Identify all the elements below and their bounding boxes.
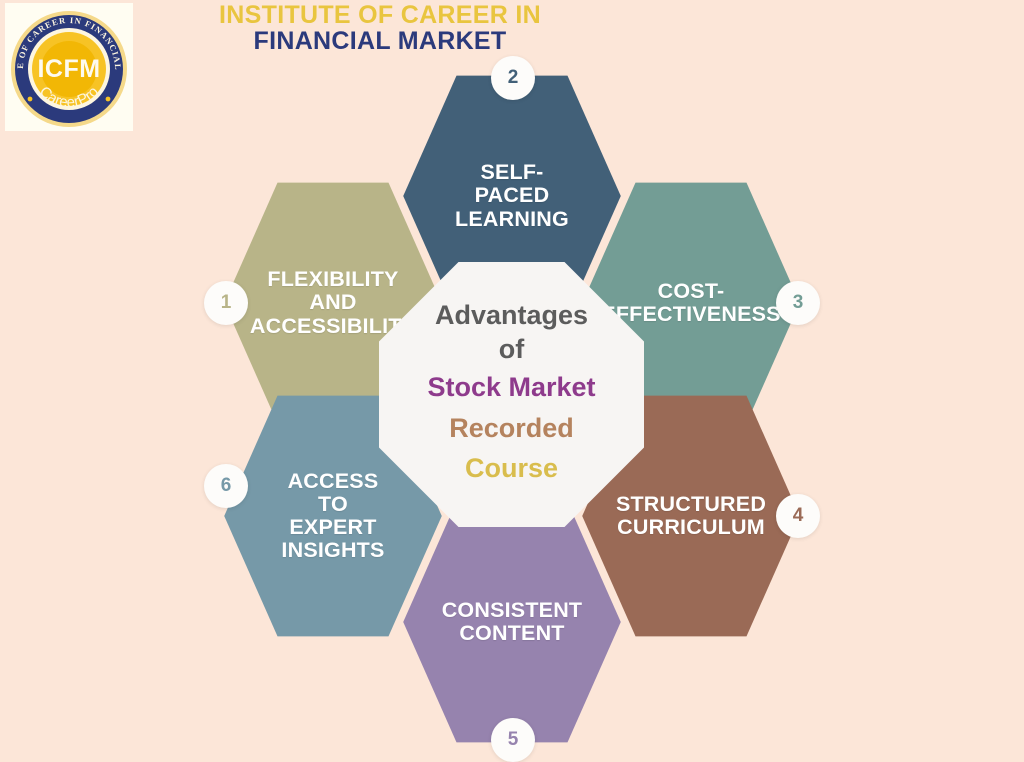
hex-badge-5-number: 5 — [508, 729, 519, 751]
center-line-advantages: Advantages — [435, 300, 588, 330]
hex-badge-2: 2 — [491, 56, 535, 100]
hex-badge-3: 3 — [776, 281, 820, 325]
hex-badge-5: 5 — [491, 718, 535, 762]
center-line-recorded: Recorded — [449, 408, 574, 449]
hex-badge-1: 1 — [204, 281, 248, 325]
center-line-stock-market: Stock Market — [427, 367, 595, 408]
hex-badge-4-number: 4 — [793, 505, 804, 527]
center-line-of: of — [499, 331, 524, 367]
hex-badge-1-number: 1 — [221, 292, 232, 314]
center-title-octagon: Advantages of Stock Market Recorded Cour… — [379, 262, 644, 527]
hex-badge-2-number: 2 — [508, 67, 519, 89]
hex-badge-6-number: 6 — [221, 475, 232, 497]
advantages-hexagon-diagram: FLEXIBILITY AND ACCESSIBILITY 1 SELF- PA… — [0, 0, 1024, 753]
hex-badge-6: 6 — [204, 464, 248, 508]
hex-badge-3-number: 3 — [793, 292, 804, 314]
center-line-course: Course — [465, 448, 558, 489]
hex-badge-4: 4 — [776, 494, 820, 538]
